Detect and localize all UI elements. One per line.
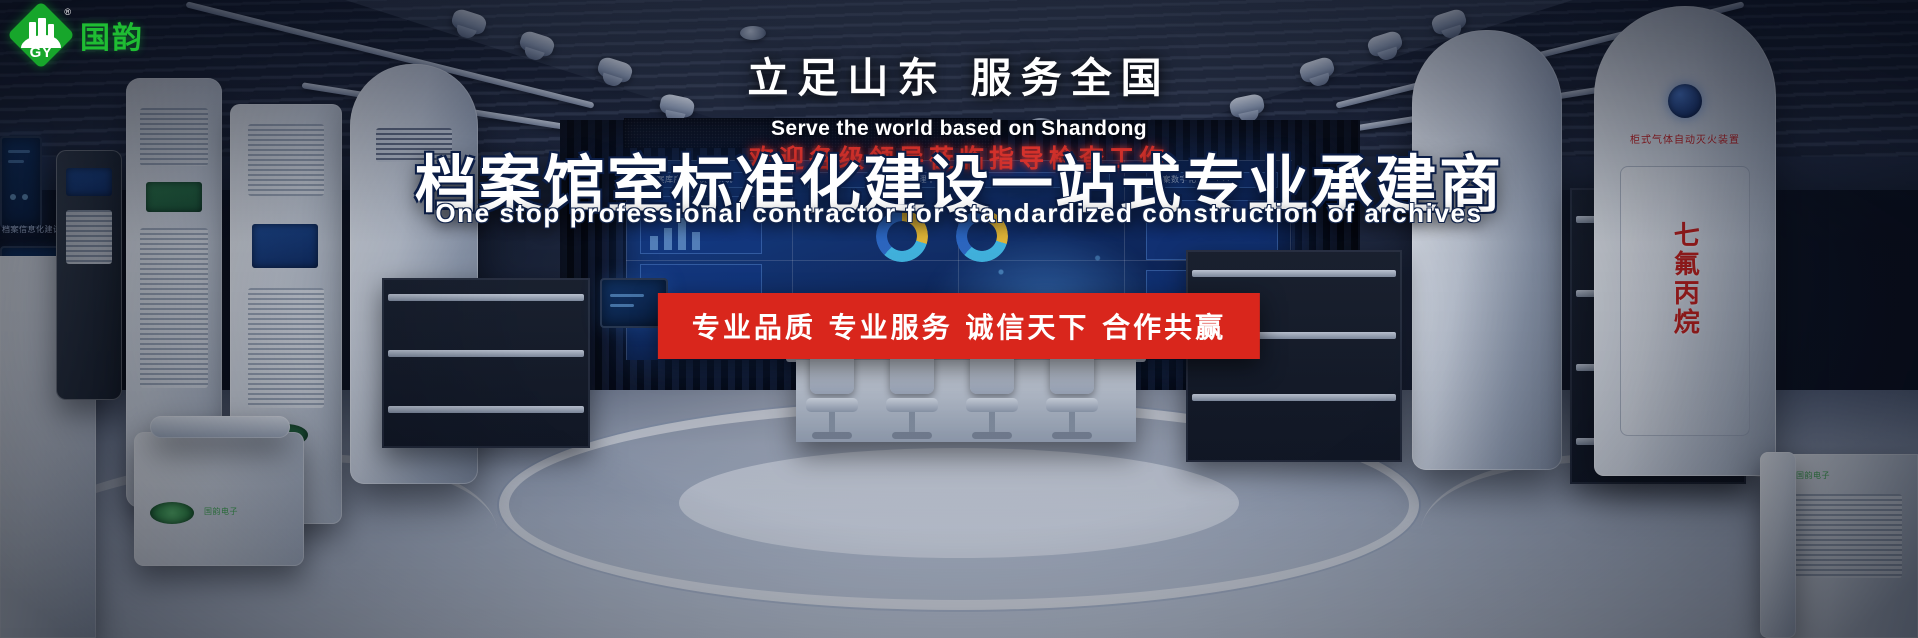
brand-name: 国韵 [80, 13, 144, 57]
hero-cta-banner[interactable]: 专业品质 专业服务 诚信天下 合作共赢 [658, 293, 1260, 359]
gy-building-diamond-logo-icon: GY ® [12, 6, 70, 64]
hero-banner: 档案库房环境监控系统 智慧档案管理平台 档案数字化加工平台 档案信息化建设一体机 [0, 0, 1918, 638]
trademark-icon: ® [64, 7, 71, 17]
logo-monogram: GY [12, 44, 70, 61]
brand-logo[interactable]: GY ® 国韵 [12, 6, 144, 64]
